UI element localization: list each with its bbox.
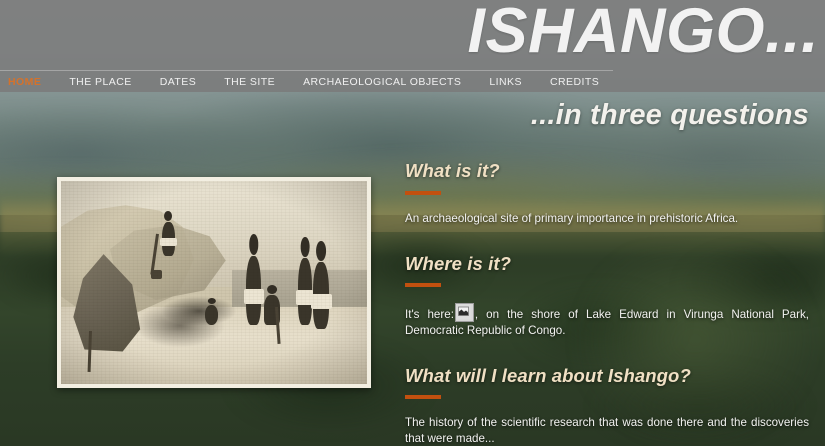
question-heading: What will I learn about Ishango? xyxy=(405,365,809,386)
question-heading: What is it? xyxy=(405,160,809,181)
question-body: An archaeological site of primary import… xyxy=(405,211,809,227)
photo-grain xyxy=(61,181,367,384)
page-root: ISHANGO... HOME THE PLACE DATES THE SITE… xyxy=(0,0,825,446)
broken-image-icon[interactable] xyxy=(455,303,474,322)
excavation-photo xyxy=(61,181,367,384)
question-block-where-is-it: Where is it? It's here:, on the shore of… xyxy=(405,253,809,339)
heading-accent-rule xyxy=(405,283,441,287)
nav-item-dates[interactable]: DATES xyxy=(146,70,210,95)
site-title: ISHANGO... xyxy=(467,0,819,67)
question-heading: Where is it? xyxy=(405,253,809,274)
page-subtitle: ...in three questions xyxy=(405,100,809,130)
heading-accent-rule xyxy=(405,191,441,195)
nav-item-credits[interactable]: CREDITS xyxy=(536,70,613,95)
nav-item-the-site[interactable]: THE SITE xyxy=(210,70,289,95)
nav-item-home[interactable]: HOME xyxy=(0,70,55,95)
question-body: The history of the scientific research t… xyxy=(405,415,809,446)
excavation-photo-frame xyxy=(57,177,371,388)
nav-item-links[interactable]: LINKS xyxy=(475,70,536,95)
question-block-what-will-i-learn: What will I learn about Ishango? The his… xyxy=(405,365,809,446)
heading-accent-rule xyxy=(405,395,441,399)
primary-navigation: HOME THE PLACE DATES THE SITE ARCHAEOLOG… xyxy=(0,70,613,95)
question-body: It's here:, on the shore of Lake Edward … xyxy=(405,303,809,339)
nav-item-archaeological-objects[interactable]: ARCHAEOLOGICAL OBJECTS xyxy=(289,70,475,95)
question-block-what-is-it: What is it? An archaeological site of pr… xyxy=(405,160,809,226)
nav-item-the-place[interactable]: THE PLACE xyxy=(55,70,145,95)
content-column: ...in three questions What is it? An arc… xyxy=(405,100,809,446)
question-body-text-before-icon: It's here: xyxy=(405,308,454,321)
